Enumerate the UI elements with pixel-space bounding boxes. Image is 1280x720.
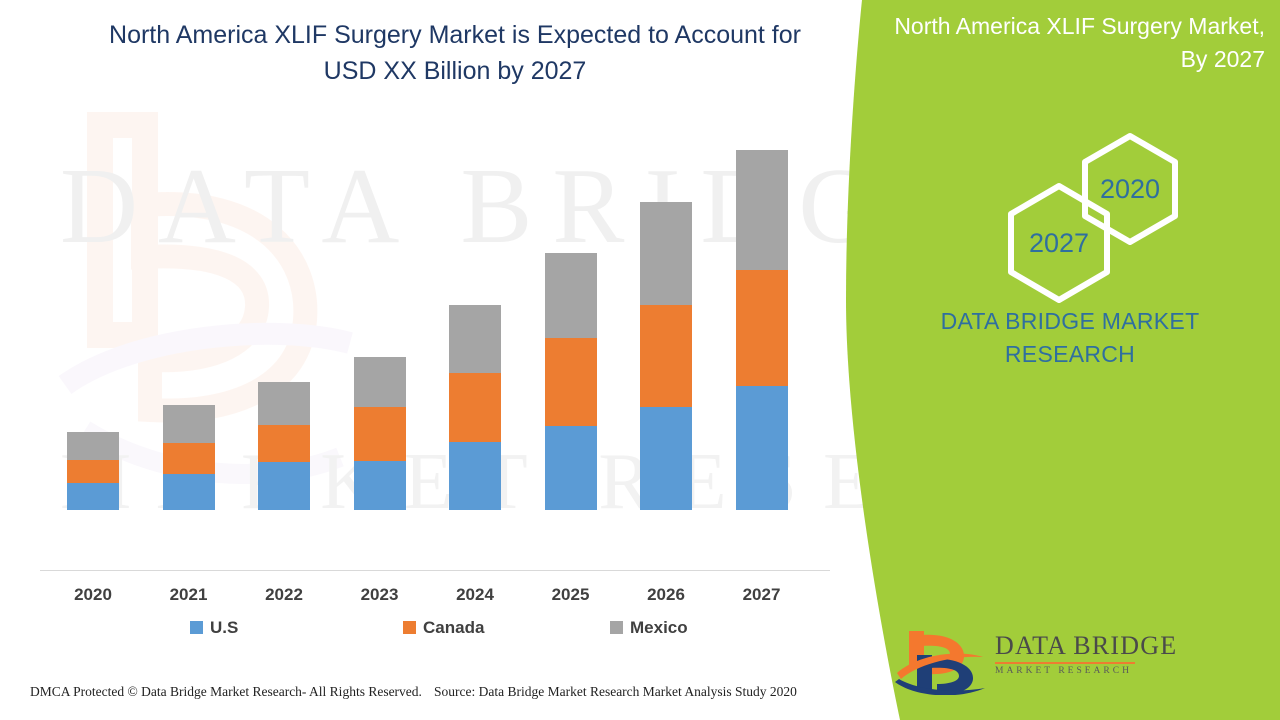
logo-subtitle: MARKET RESEARCH xyxy=(995,667,1177,677)
stacked-bar-chart: 20202021202220232024202520262027 U.SCana… xyxy=(0,0,860,660)
logo-title: DATA BRIDGE xyxy=(995,633,1177,659)
bar-segment-mexico-2023 xyxy=(354,357,406,407)
bar-2027 xyxy=(736,150,788,510)
legend-swatch-icon xyxy=(190,621,203,634)
panel-brand-line-2: RESEARCH xyxy=(870,338,1270,371)
bar-2021 xyxy=(163,405,215,510)
bar-2022 xyxy=(258,382,310,510)
bar-segment-mexico-2026 xyxy=(640,202,692,305)
chart-legend: U.SCanadaMexico xyxy=(40,617,830,643)
bar-segment-us-2025 xyxy=(545,426,597,510)
panel-title: North America XLIF Surgery Market, By 20… xyxy=(880,10,1265,77)
panel-content: North America XLIF Surgery Market, By 20… xyxy=(860,0,1280,720)
x-axis-label-2021: 2021 xyxy=(143,585,235,605)
panel-brand-name: DATA BRIDGE MARKET RESEARCH xyxy=(870,305,1270,370)
bar-segment-us-2027 xyxy=(736,386,788,510)
x-axis-label-2020: 2020 xyxy=(47,585,139,605)
x-axis-label-2025: 2025 xyxy=(525,585,617,605)
x-axis-label-2022: 2022 xyxy=(238,585,330,605)
legend-item-mexico[interactable]: Mexico xyxy=(610,619,688,636)
legend-label: U.S xyxy=(210,619,238,636)
bar-2025 xyxy=(545,253,597,510)
bar-segment-mexico-2025 xyxy=(545,253,597,338)
bar-segment-canada-2021 xyxy=(163,443,215,474)
bar-segment-us-2022 xyxy=(258,462,310,510)
legend-swatch-icon xyxy=(610,621,623,634)
bar-segment-canada-2027 xyxy=(736,270,788,386)
x-axis-label-2024: 2024 xyxy=(429,585,521,605)
bar-2026 xyxy=(640,202,692,510)
logo-text: DATA BRIDGE MARKET RESEARCH xyxy=(995,633,1177,677)
bar-segment-us-2024 xyxy=(449,442,501,510)
bar-segment-us-2020 xyxy=(67,483,119,510)
legend-label: Canada xyxy=(423,619,484,636)
bar-segment-canada-2024 xyxy=(449,373,501,442)
footer-source: Source: Data Bridge Market Research Mark… xyxy=(434,684,797,700)
x-axis-line xyxy=(40,570,830,571)
bar-2020 xyxy=(67,432,119,510)
legend-item-us[interactable]: U.S xyxy=(190,619,238,636)
bar-segment-mexico-2021 xyxy=(163,405,215,443)
logo-divider xyxy=(995,662,1135,664)
x-axis-label-2026: 2026 xyxy=(620,585,712,605)
bar-segment-mexico-2024 xyxy=(449,305,501,373)
panel-title-line-1: North America XLIF Surgery Market, xyxy=(880,10,1265,43)
legend-swatch-icon xyxy=(403,621,416,634)
panel-brand-line-1: DATA BRIDGE MARKET xyxy=(870,305,1270,338)
bar-segment-us-2026 xyxy=(640,407,692,510)
x-axis-label-2027: 2027 xyxy=(716,585,808,605)
bar-segment-us-2021 xyxy=(163,474,215,510)
footer: DMCA Protected © Data Bridge Market Rese… xyxy=(0,678,860,720)
hexagon-2027: 2027 xyxy=(1000,180,1118,306)
bar-segment-mexico-2022 xyxy=(258,382,310,425)
bar-segment-us-2023 xyxy=(354,461,406,510)
x-axis-label-2023: 2023 xyxy=(334,585,426,605)
bar-segment-canada-2025 xyxy=(545,338,597,426)
footer-copyright: DMCA Protected © Data Bridge Market Rese… xyxy=(30,684,422,700)
bar-segment-canada-2023 xyxy=(354,407,406,461)
data-bridge-b-icon xyxy=(895,625,990,695)
legend-label: Mexico xyxy=(630,619,688,636)
company-logo: DATA BRIDGE MARKET RESEARCH xyxy=(895,625,1125,695)
bar-segment-canada-2026 xyxy=(640,305,692,407)
bar-segment-canada-2022 xyxy=(258,425,310,462)
hexagon-2027-label: 2027 xyxy=(1000,228,1118,259)
bar-segment-canada-2020 xyxy=(67,460,119,483)
bar-segment-mexico-2027 xyxy=(736,150,788,270)
bar-2024 xyxy=(449,305,501,510)
bar-segment-mexico-2020 xyxy=(67,432,119,460)
bar-2023 xyxy=(354,357,406,510)
panel-title-line-2: By 2027 xyxy=(880,43,1265,76)
legend-item-canada[interactable]: Canada xyxy=(403,619,484,636)
hexagon-group: 2020 2027 xyxy=(860,130,1280,310)
